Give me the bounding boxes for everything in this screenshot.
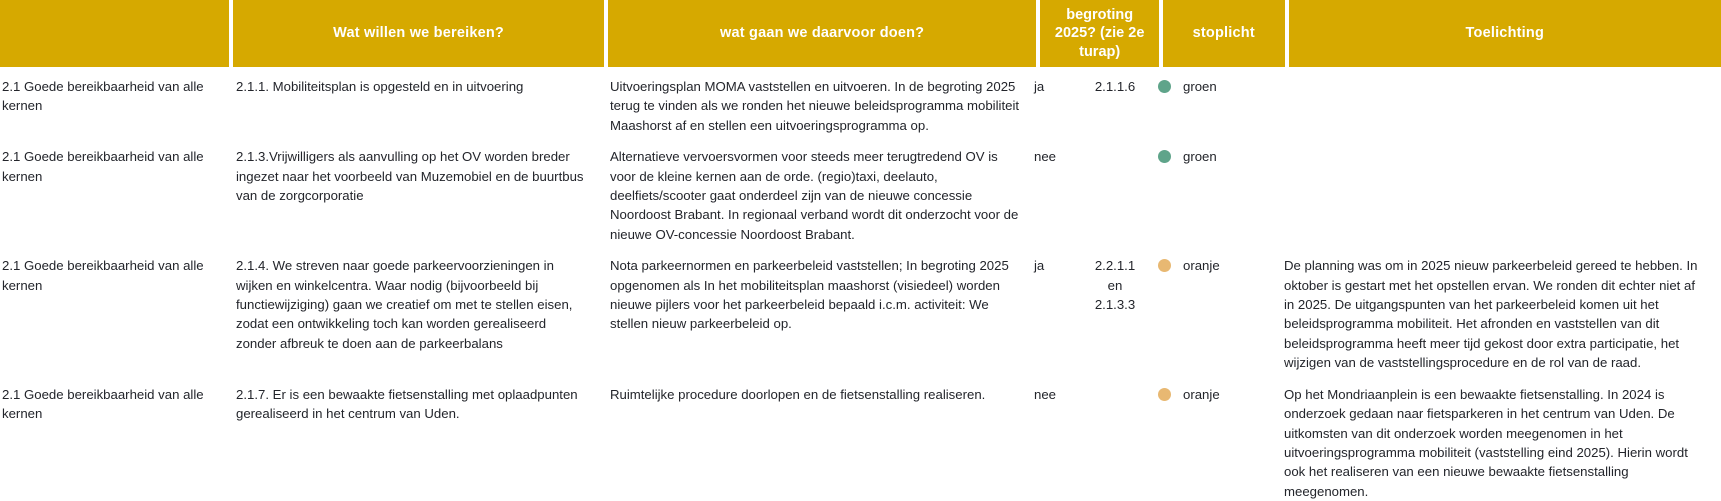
status-dot-groen-icon [1158, 150, 1171, 163]
cell-nummers: 2.1.1.6 [1072, 77, 1158, 96]
nummer-line: 2.1.1.6 [1072, 77, 1158, 96]
status-dot-oranje-icon [1158, 388, 1171, 401]
cell-begroting: nee [1034, 147, 1072, 166]
cell-stoplicht: oranje [1158, 256, 1280, 275]
cell-nummers: 2.2.1.1 en 2.1.3.3 [1072, 256, 1158, 314]
table-row: 2.1 Goede bereikbaarheid van alle kernen… [0, 77, 1721, 135]
cell-wat-willen: 2.1.1. Mobiliteitsplan is opgesteld en i… [232, 77, 604, 96]
cell-wat-doen: Uitvoeringsplan MOMA vaststellen en uitv… [604, 77, 1034, 135]
cell-wat-doen: Nota parkeernormen en parkeerbeleid vast… [604, 256, 1034, 334]
column-header-stoplicht: stoplicht [1163, 0, 1285, 67]
cell-toelichting: De planning was om in 2025 nieuw parkeer… [1280, 256, 1714, 372]
status-label: groen [1183, 77, 1217, 96]
table-row: 2.1 Goede bereikbaarheid van alle kernen… [0, 385, 1721, 501]
nummer-line: 2.1.3.3 [1072, 295, 1158, 314]
column-header-wat-gaan-we-daarvoor-doen: wat gaan we daarvoor doen? [608, 0, 1036, 67]
status-label: oranje [1183, 256, 1220, 275]
table-body: 2.1 Goede bereikbaarheid van alle kernen… [0, 67, 1721, 501]
cell-stoplicht: oranje [1158, 385, 1280, 404]
cell-doel: 2.1 Goede bereikbaarheid van alle kernen [0, 256, 232, 295]
cell-begroting: nee [1034, 385, 1072, 404]
cell-wat-willen: 2.1.3.Vrijwilligers als aanvulling op he… [232, 147, 604, 205]
cell-doel: 2.1 Goede bereikbaarheid van alle kernen [0, 385, 232, 424]
status-dot-oranje-icon [1158, 259, 1171, 272]
cell-wat-doen: Ruimtelijke procedure doorlopen en de fi… [604, 385, 1034, 404]
table-row: 2.1 Goede bereikbaarheid van alle kernen… [0, 256, 1721, 372]
column-header-doel [0, 0, 229, 67]
status-label: oranje [1183, 385, 1220, 404]
cell-begroting: ja [1034, 77, 1072, 96]
table-header-row: Wat willen we bereiken? wat gaan we daar… [0, 0, 1721, 67]
cell-doel: 2.1 Goede bereikbaarheid van alle kernen [0, 147, 232, 186]
column-header-wat-willen-we-bereiken: Wat willen we bereiken? [233, 0, 604, 67]
status-label: groen [1183, 147, 1217, 166]
column-header-toelichting: Toelichting [1289, 0, 1721, 67]
table-row: 2.1 Goede bereikbaarheid van alle kernen… [0, 147, 1721, 244]
cell-wat-doen: Alternatieve vervoersvormen voor steeds … [604, 147, 1034, 244]
cell-stoplicht: groen [1158, 147, 1280, 166]
cell-begroting: ja [1034, 256, 1072, 275]
status-dot-groen-icon [1158, 80, 1171, 93]
nummer-line: 2.2.1.1 [1072, 256, 1158, 275]
nummer-line: en [1072, 276, 1158, 295]
cell-toelichting: Op het Mondriaanplein is een bewaakte fi… [1280, 385, 1714, 501]
column-header-begroting-2025: begroting 2025? (zie 2e turap) [1040, 0, 1159, 67]
cell-wat-willen: 2.1.4. We streven naar goede parkeervoor… [232, 256, 604, 353]
cell-doel: 2.1 Goede bereikbaarheid van alle kernen [0, 77, 232, 116]
cell-stoplicht: groen [1158, 77, 1280, 96]
progress-table-sheet: Wat willen we bereiken? wat gaan we daar… [0, 0, 1721, 456]
cell-wat-willen: 2.1.7. Er is een bewaakte fietsenstallin… [232, 385, 604, 424]
